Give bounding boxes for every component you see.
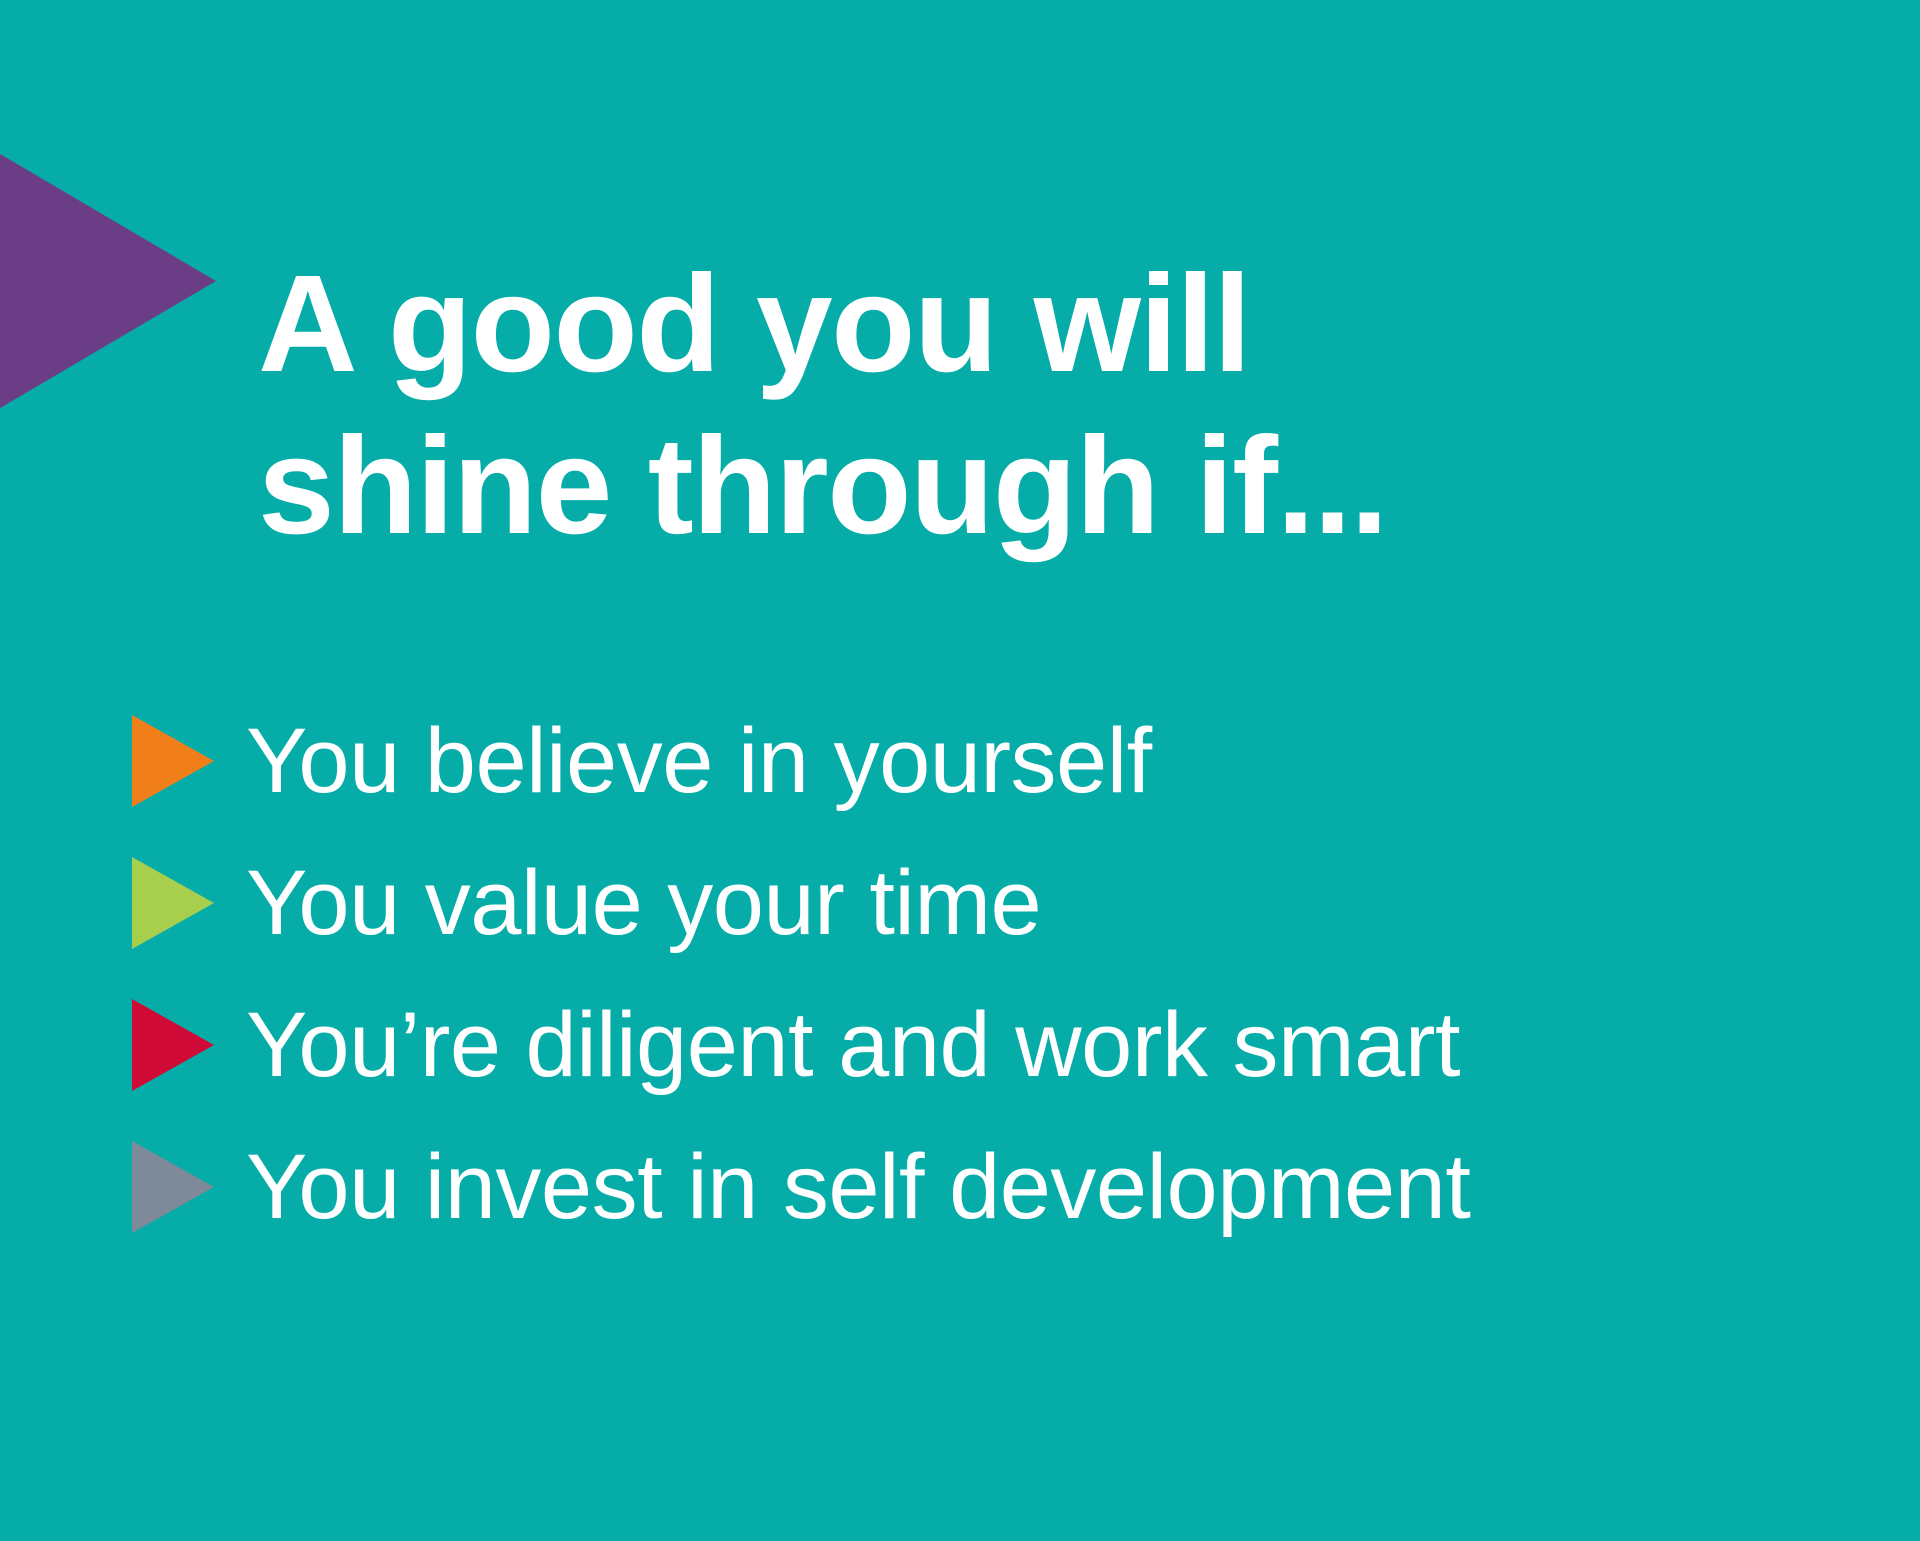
- triangle-right-icon: [128, 711, 220, 811]
- list-item: You value your time: [128, 832, 1918, 974]
- list-item-label: You value your time: [246, 857, 1041, 949]
- triangle-right-icon: [128, 853, 220, 953]
- slide-canvas: A good you will shine through if... You …: [0, 0, 1920, 1541]
- list-item: You believe in yourself: [128, 690, 1918, 832]
- bullet-list: You believe in yourself You value your t…: [128, 690, 1918, 1258]
- list-item-label: You believe in yourself: [246, 715, 1152, 807]
- slide-heading: A good you will shine through if...: [258, 244, 1898, 567]
- list-item-label: You’re diligent and work smart: [246, 999, 1460, 1091]
- list-item-label: You invest in self development: [246, 1141, 1470, 1233]
- triangle-right-icon: [128, 1137, 220, 1237]
- list-item: You invest in self development: [128, 1116, 1918, 1258]
- corner-triangle-right-icon: [0, 148, 216, 414]
- list-item: You’re diligent and work smart: [128, 974, 1918, 1116]
- triangle-right-icon: [128, 995, 220, 1095]
